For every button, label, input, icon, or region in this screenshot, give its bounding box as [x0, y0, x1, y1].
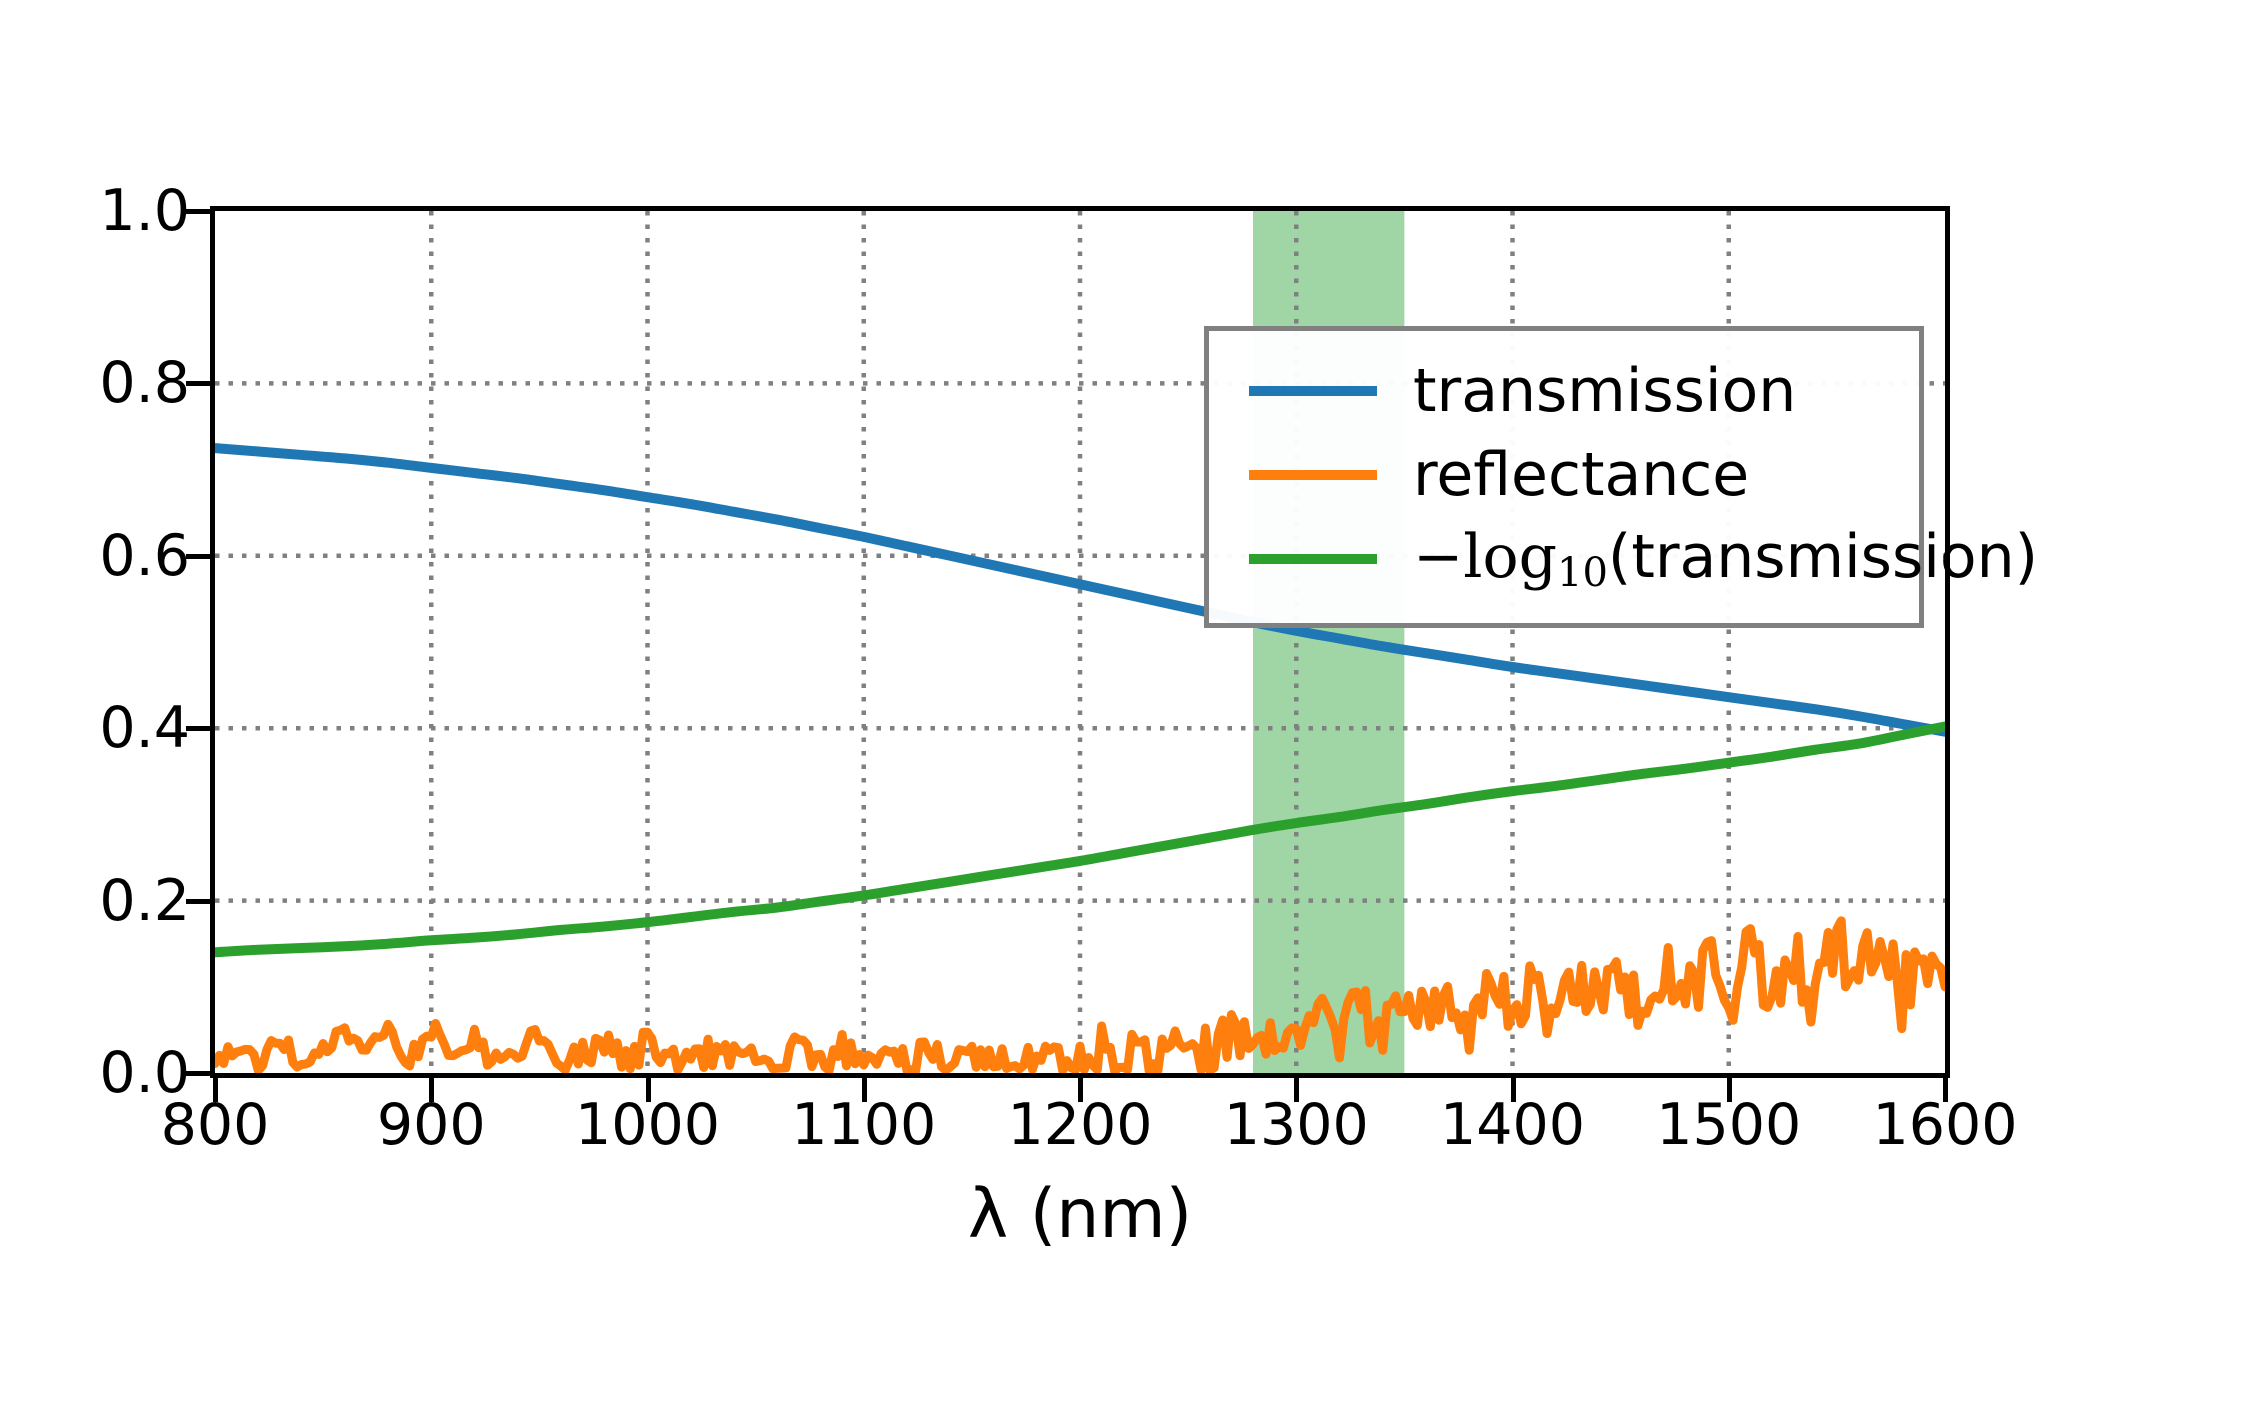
x-tick-mark — [1727, 1078, 1732, 1102]
y-tick-mark — [186, 899, 210, 904]
chart-legend[interactable]: transmission reflectance −log10(transmis… — [1204, 326, 1924, 628]
legend-math-subscript: 10 — [1557, 550, 1608, 596]
legend-math-minus-log: −log — [1413, 522, 1557, 592]
x-tick-mark — [1294, 1078, 1299, 1102]
legend-item-neg-log10-transmission[interactable]: −log10(transmission) — [1235, 517, 1893, 601]
y-tick-mark — [186, 381, 210, 386]
x-tick-mark — [1511, 1078, 1516, 1102]
legend-item-reflectance[interactable]: reflectance — [1235, 433, 1893, 517]
y-tick-label: 0.8 — [0, 350, 190, 416]
legend-swatch-neg-log10-transmission — [1249, 554, 1377, 564]
x-tick-mark — [213, 1078, 218, 1102]
legend-swatch-reflectance — [1249, 470, 1377, 480]
y-tick-label: 1.0 — [0, 178, 190, 244]
legend-label-transmission: transmission — [1413, 356, 1796, 426]
line-series-reflectance — [215, 921, 1945, 1071]
legend-label-reflectance: reflectance — [1413, 440, 1749, 510]
y-tick-mark — [186, 726, 210, 731]
chart-figure: 0.00.20.40.60.81.0 800900100011001200130… — [0, 0, 2250, 1425]
x-tick-mark — [429, 1078, 434, 1102]
legend-math-argument: (transmission) — [1608, 522, 2038, 592]
legend-swatch-transmission — [1249, 386, 1377, 396]
x-tick-mark — [1943, 1078, 1948, 1102]
y-tick-label: 0.6 — [0, 523, 190, 589]
x-tick-mark — [646, 1078, 651, 1102]
x-tick-mark — [1078, 1078, 1083, 1102]
y-tick-mark — [186, 554, 210, 559]
y-tick-mark — [186, 209, 210, 214]
y-tick-label: 0.4 — [0, 695, 190, 761]
x-axis-label: λ (nm) — [210, 1175, 1950, 1254]
y-tick-mark — [186, 1071, 210, 1076]
line-series--log10(transmission) — [215, 726, 1945, 952]
x-tick-mark — [862, 1078, 867, 1102]
legend-label-neg-log10-transmission: −log10(transmission) — [1413, 522, 2038, 596]
y-tick-label: 0.2 — [0, 868, 190, 934]
legend-item-transmission[interactable]: transmission — [1235, 349, 1893, 433]
